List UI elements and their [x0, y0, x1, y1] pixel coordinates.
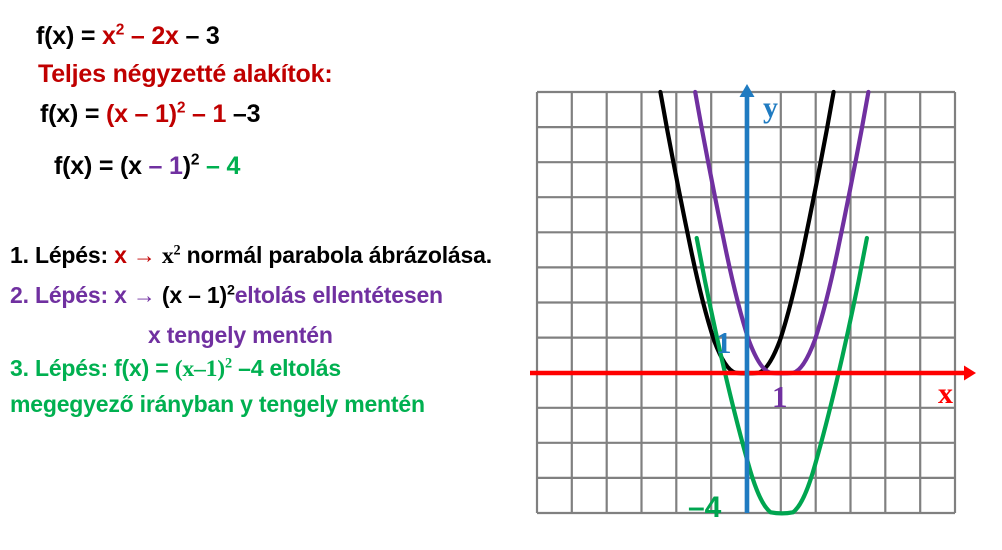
eq1-rhs-x: x	[102, 22, 116, 50]
step3-expr: (x–1)	[175, 356, 225, 382]
step1-x-squared: x	[162, 243, 174, 269]
step3-rest: –4 eltolás	[232, 355, 341, 381]
eq1-rhs-mid: – 2x	[124, 22, 185, 50]
step-2-line: 2. Lépés: x → (x – 1)2eltolás ellentétes…	[10, 282, 443, 309]
eq3-tail: –3	[233, 100, 260, 128]
step3-label: 3. Lépés: f(x) =	[10, 355, 175, 381]
x-value-one-marker: 1	[772, 379, 788, 414]
step-3-line: 3. Lépés: f(x) = (x–1)2 –4 eltolás	[10, 355, 341, 383]
eq4-lhs: f(x) = (x	[54, 152, 142, 180]
eq3-lhs: f(x) =	[40, 100, 106, 128]
step2-rest: eltolás ellentétesen	[235, 282, 443, 308]
y-value-one-marker: 1	[716, 325, 732, 360]
step-2-line-continued: x tengely mentén	[148, 322, 333, 349]
y-value-minus-four-marker: –4	[688, 491, 722, 524]
x-axis-label: x	[938, 377, 953, 410]
eq4-paren-close: )	[183, 152, 191, 180]
step1-rest: normál parabola ábrázolása.	[180, 242, 491, 268]
y-axis	[740, 84, 755, 513]
x-axis	[530, 366, 976, 381]
parabola-graph-panel: y x 1 1 –4	[520, 70, 1002, 540]
equation-text-panel: f(x) = x2 – 2x – 3 Teljes négyzetté alak…	[0, 0, 540, 550]
eq1-rhs-exponent: 2	[116, 22, 124, 39]
eq3-paren: (x – 1)	[106, 100, 177, 128]
parabola-graph-svg: y x 1 1 –4	[520, 70, 1002, 540]
eq3-exponent: 2	[177, 100, 185, 117]
equation-line-1: f(x) = x2 – 2x – 3	[36, 22, 220, 51]
equation-line-3: f(x) = (x – 1)2 – 1 –3	[40, 100, 260, 129]
equation-line-2-heading: Teljes négyzetté alakítok:	[38, 60, 332, 89]
step2-label: 2. Lépés: x →	[10, 282, 162, 308]
step2-expr: (x – 1)	[162, 282, 227, 308]
step-1-line: 1. Lépés: x → x2 normál parabola ábrázol…	[10, 242, 492, 270]
eq1-rhs-tail: – 3	[185, 22, 219, 50]
eq4-green-term: – 4	[199, 152, 240, 180]
step-3-line-continued: megegyező irányban y tengely mentén	[10, 391, 425, 418]
eq3-minus-one: – 1	[185, 100, 233, 128]
eq1-lhs: f(x) =	[36, 22, 102, 50]
step3-expr-exponent: 2	[225, 355, 232, 371]
y-axis-label: y	[763, 91, 778, 124]
step1-x: x	[114, 242, 127, 268]
step1-arrow-icon: →	[127, 242, 162, 268]
step1-label: 1. Lépés:	[10, 242, 114, 268]
step2-expr-exponent: 2	[227, 282, 235, 298]
eq4-purple-term: – 1	[142, 152, 183, 180]
equation-line-4-result: f(x) = (x – 1)2 – 4	[54, 152, 240, 181]
